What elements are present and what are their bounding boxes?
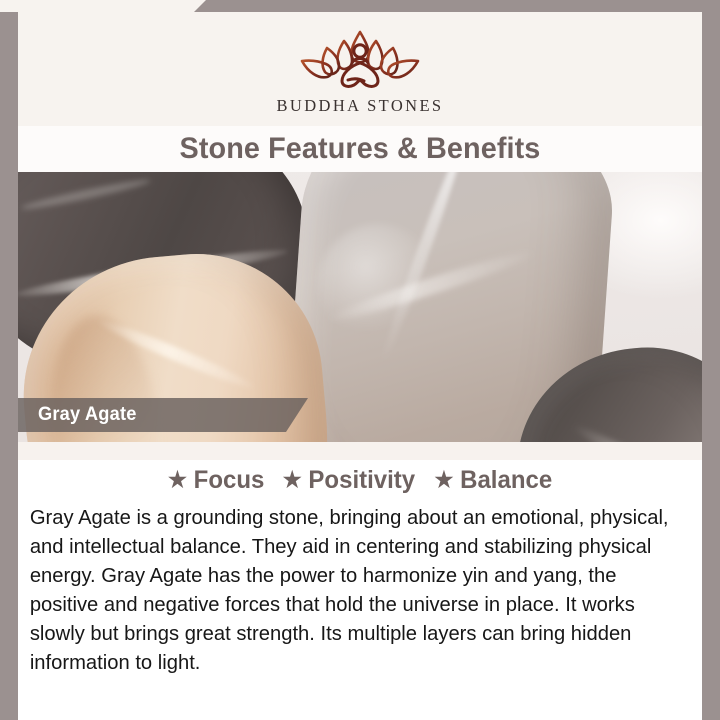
brand-header: BUDDHA STONES — [18, 12, 702, 124]
photo-caption-label: Gray Agate — [38, 404, 137, 426]
page-surface: BUDDHA STONES Stone Features & Benefits … — [18, 12, 702, 692]
benefit-keyword-positivity: ★ Positivity — [283, 466, 415, 495]
benefit-keyword-label: Focus — [193, 466, 264, 495]
stone-description: Gray Agate is a grounding stone, bringin… — [18, 503, 692, 677]
frame-band-right — [702, 0, 720, 720]
title-banner: Stone Features & Benefits — [18, 126, 702, 172]
content-panel: ★ Focus ★ Positivity ★ Balance Gray Agat… — [18, 442, 702, 720]
stone-info-card: BUDDHA STONES Stone Features & Benefits … — [0, 0, 720, 720]
benefit-keyword-focus: ★ Focus — [168, 466, 264, 495]
benefit-keyword-label: Positivity — [308, 466, 415, 495]
star-icon: ★ — [168, 469, 187, 491]
star-icon: ★ — [434, 469, 453, 491]
brand-wordmark: BUDDHA STONES — [276, 96, 443, 116]
page-title: Stone Features & Benefits — [180, 132, 541, 166]
content-top-strip — [18, 442, 702, 460]
benefit-keyword-label: Balance — [460, 466, 552, 495]
content-bottom-fill — [18, 677, 702, 720]
photo-caption-bar: Gray Agate — [18, 398, 308, 432]
frame-band-left — [0, 12, 18, 720]
lotus-meditation-figure-icon — [286, 26, 434, 92]
stone-photo: Gray Agate — [18, 172, 702, 442]
star-icon: ★ — [283, 469, 302, 491]
benefit-keyword-balance: ★ Balance — [434, 466, 552, 495]
benefit-keywords: ★ Focus ★ Positivity ★ Balance — [18, 460, 702, 499]
stone-highlight — [318, 224, 438, 344]
